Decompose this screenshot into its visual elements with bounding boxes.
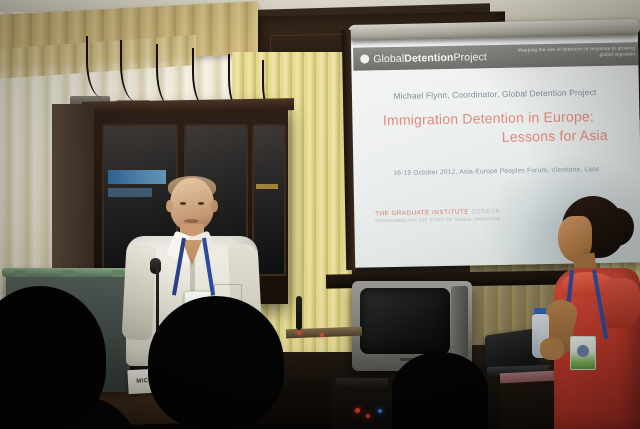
gdp-circle-icon <box>360 54 369 63</box>
speaker-mouth <box>184 219 199 223</box>
handheld-mic-led-2 <box>320 333 324 337</box>
speaker-eye-left <box>180 202 186 205</box>
audience-head-right <box>392 352 488 429</box>
cabinet-shelf-item-gold <box>256 184 278 189</box>
gdp-logo-detention: Detention <box>404 51 454 64</box>
speaker-ear-left <box>166 200 173 212</box>
participant-hand <box>540 338 564 360</box>
participant-badge <box>570 336 596 370</box>
slide-presenter-line: Michael Flynn, Coordinator, Global Deten… <box>351 86 639 102</box>
slide-title-line2: Lessons for Asia <box>352 126 626 150</box>
board-clip-left <box>14 270 26 277</box>
slide-title-line1: Immigration Detention in Europe: <box>383 108 594 128</box>
photograph-scene: GlobalDetentionProject Mapping the use o… <box>0 0 640 429</box>
audience-head-center <box>148 296 284 429</box>
board-clip-right <box>112 270 124 277</box>
speaker-eye-right <box>198 202 204 205</box>
participant-sleeve <box>604 278 640 328</box>
participant-figure <box>548 196 640 429</box>
power-led-red <box>355 408 360 413</box>
handheld-microphone-1 <box>296 296 302 330</box>
board-clip-center <box>62 270 74 277</box>
gdp-logo-global: Global <box>373 52 404 65</box>
slide-title: Immigration Detention in Europe: Lessons… <box>351 107 626 150</box>
television-side-speaker <box>451 286 468 358</box>
room-background: GlobalDetentionProject Mapping the use o… <box>0 0 640 429</box>
slide-header-bar: GlobalDetentionProject Mapping the use o… <box>353 42 640 71</box>
gdp-logo-project: Project <box>453 51 487 64</box>
television-screen <box>360 288 450 354</box>
gdp-logo: GlobalDetentionProject <box>373 51 487 65</box>
handheld-mic-led-1 <box>297 331 301 335</box>
speaker-ear-right <box>211 200 218 212</box>
amplifier-rack <box>336 378 388 388</box>
standby-led-red <box>366 414 370 418</box>
gdp-tagline: Mapping the use of detention in response… <box>515 45 635 59</box>
status-led-blue <box>378 409 382 413</box>
